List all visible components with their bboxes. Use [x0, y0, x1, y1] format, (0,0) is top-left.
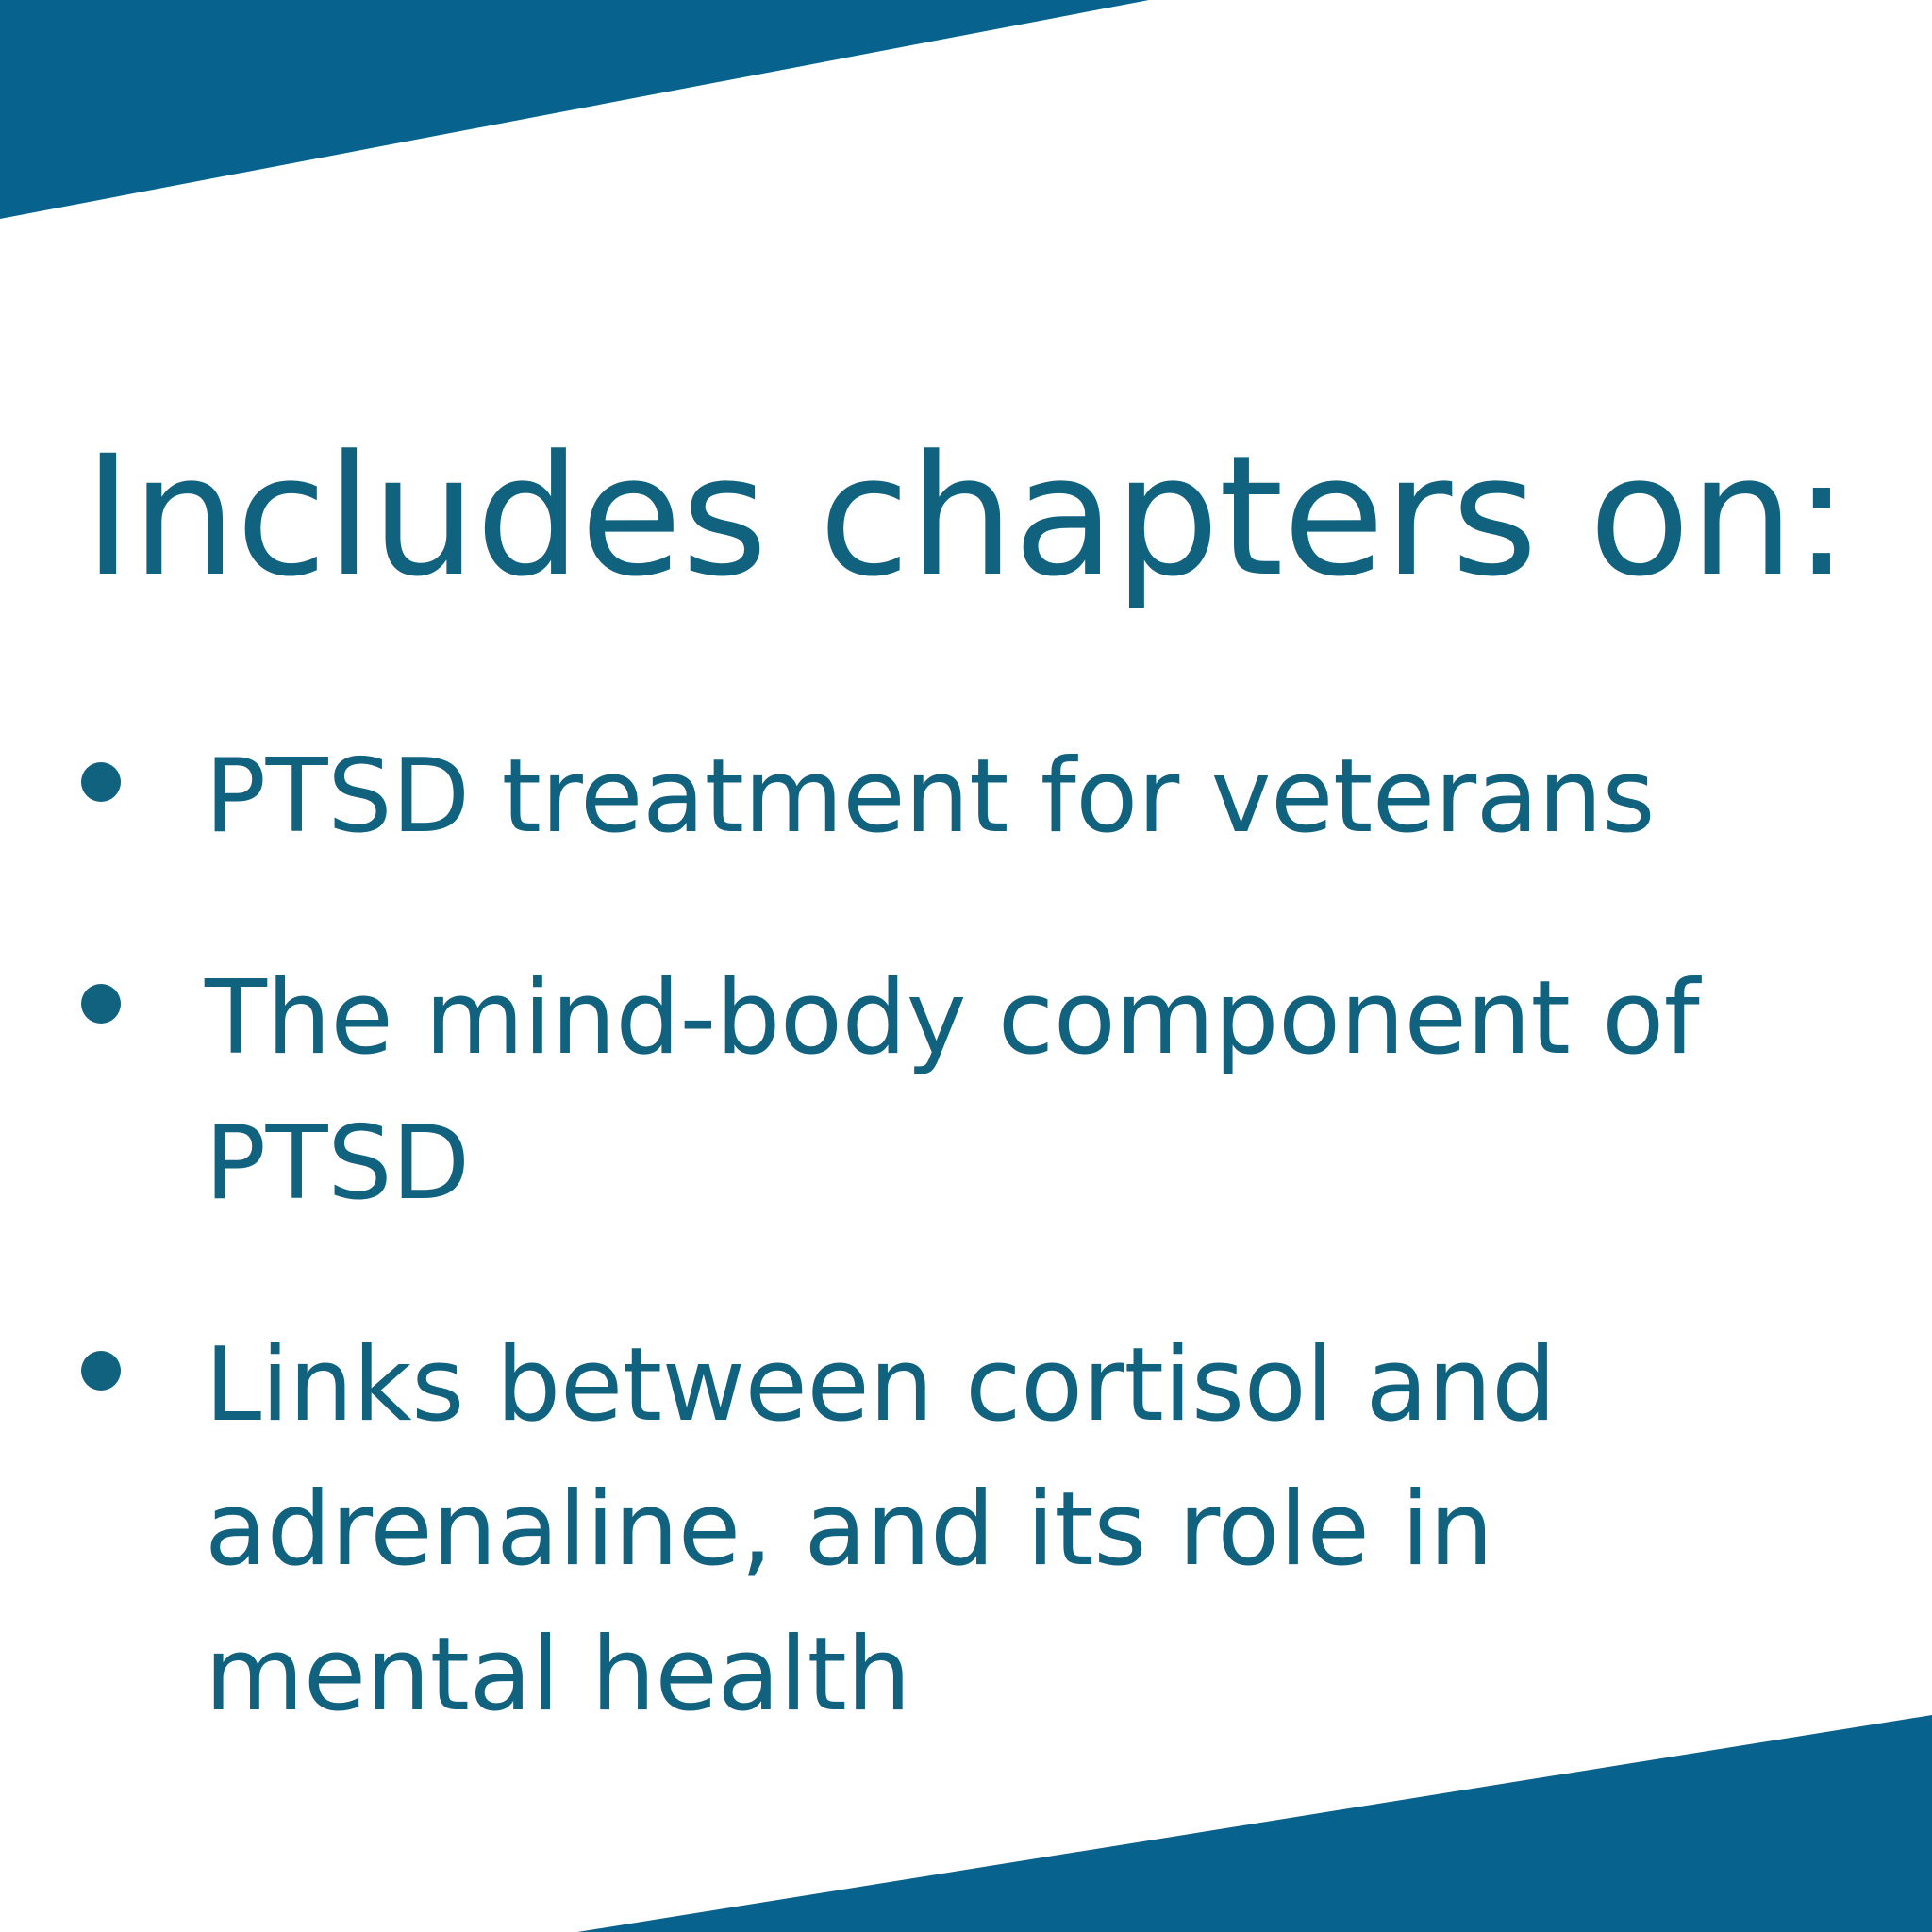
list-item: PTSD treatment for veterans: [74, 724, 1866, 869]
bullet-dot-icon: [81, 984, 121, 1024]
list-item: The mind-body component of PTSD: [74, 946, 1866, 1236]
list-item-label: Links between cortisol and adrenaline, a…: [205, 1313, 1866, 1747]
bullet-dot-icon: [81, 1351, 121, 1391]
slide-content: Includes chapters on: PTSD treatment for…: [0, 0, 1932, 1932]
list-item: Links between cortisol and adrenaline, a…: [74, 1313, 1866, 1747]
list-item-label: PTSD treatment for veterans: [205, 724, 1866, 869]
bullet-dot-icon: [81, 762, 121, 802]
slide-canvas: Includes chapters on: PTSD treatment for…: [0, 0, 1932, 1932]
list-item-label: The mind-body component of PTSD: [205, 946, 1866, 1236]
page-title: Includes chapters on:: [0, 434, 1932, 600]
chapter-bullet-list: PTSD treatment for veterans The mind-bod…: [74, 724, 1866, 1747]
